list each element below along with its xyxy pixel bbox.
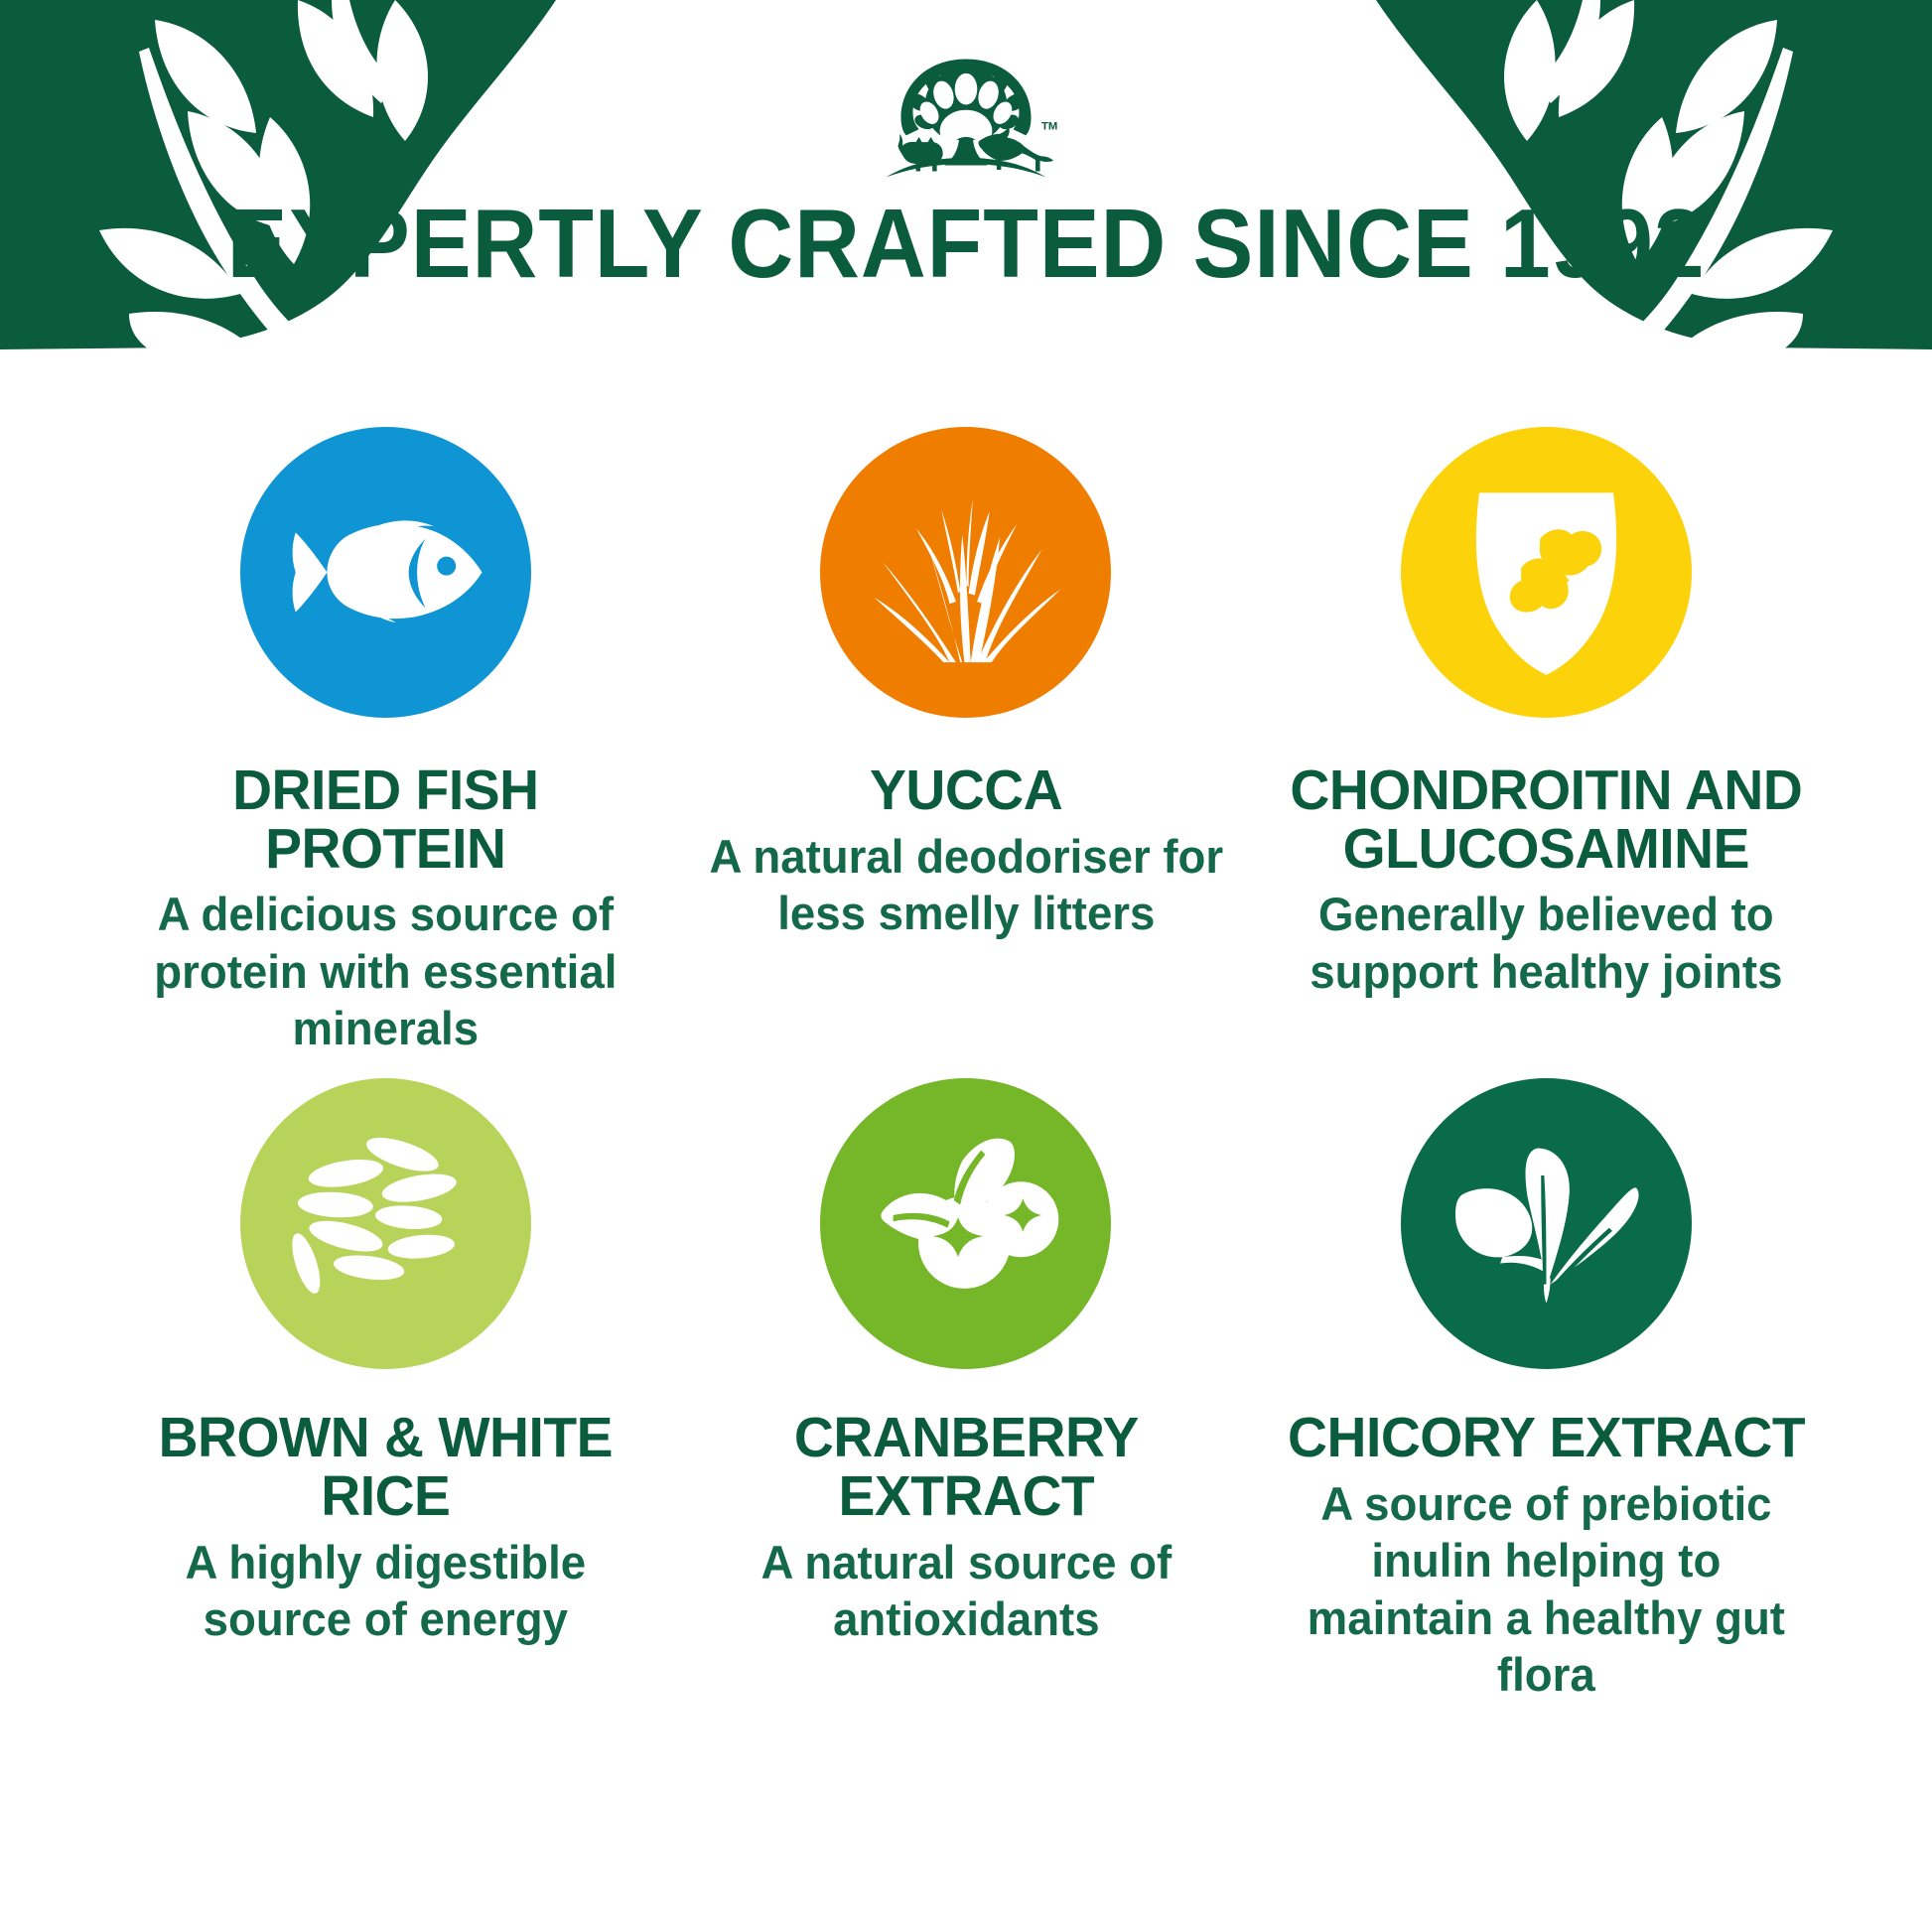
page-title: EXPERTLY CRAFTED SINCE 1992: [68, 195, 1864, 294]
ingredient-description: A highly digestible source of energy: [117, 1534, 653, 1648]
ingredient-title: CRANBERRY EXTRACT: [698, 1409, 1234, 1525]
ingredient-card-cranberry-extract: CRANBERRY EXTRACT A natural source of an…: [676, 1078, 1257, 1703]
infographic-page: TM EXPERTLY CRAFTED SINCE 1992: [0, 0, 1932, 1932]
cranberry-berries-icon: [820, 1078, 1111, 1369]
ingredient-grid: DRIED FISH PROTEIN A delicious source of…: [0, 427, 1932, 1703]
ingredient-description: Generally believed to support healthy jo…: [1279, 886, 1815, 1000]
ingredient-description: A delicious source of protein with essen…: [117, 886, 653, 1056]
ingredient-description: A source of prebiotic inulin helping to …: [1279, 1475, 1815, 1703]
ingredient-card-yucca: YUCCA A natural deodoriser for less smel…: [676, 427, 1257, 1056]
ingredient-card-chicory-extract: CHICORY EXTRACT A source of prebiotic in…: [1256, 1078, 1837, 1703]
brand-tree-logo: TM: [872, 52, 1060, 179]
yucca-plant-icon: [820, 427, 1111, 718]
ingredient-card-brown-white-rice: BROWN & WHITE RICE A highly digestible s…: [95, 1078, 676, 1703]
shield-with-joint-icon: [1401, 427, 1692, 718]
ingredient-title: BROWN & WHITE RICE: [117, 1409, 653, 1525]
cat-silhouette: [897, 134, 942, 172]
fish-icon: [240, 427, 531, 718]
ingredient-description: A natural deodoriser for less smelly lit…: [698, 828, 1234, 942]
chicory-leaves-icon: [1401, 1078, 1692, 1369]
ingredient-title: YUCCA: [870, 761, 1062, 820]
trademark-symbol: TM: [1041, 120, 1057, 132]
ingredient-title: CHICORY EXTRACT: [1288, 1409, 1805, 1467]
ingredient-card-chondroitin-glucosamine: CHONDROITIN AND GLUCOSAMINE Generally be…: [1256, 427, 1837, 1056]
ingredient-title: CHONDROITIN AND GLUCOSAMINE: [1279, 761, 1815, 878]
ingredient-description: A natural source of antioxidants: [698, 1534, 1234, 1648]
ingredient-card-dried-fish-protein: DRIED FISH PROTEIN A delicious source of…: [95, 427, 676, 1056]
rice-grains-icon: [240, 1078, 531, 1369]
ingredient-title: DRIED FISH PROTEIN: [117, 761, 653, 878]
